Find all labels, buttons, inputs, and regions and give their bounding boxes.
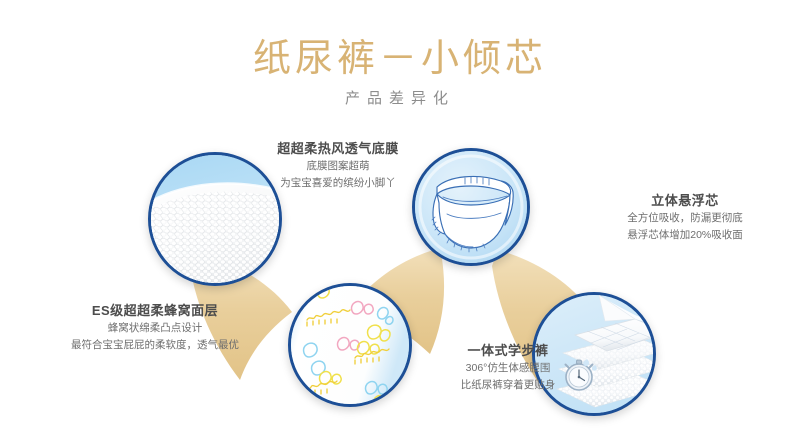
feature-heading: 一体式学步裤 <box>398 342 618 360</box>
page-title: 纸尿裤－小倾芯 <box>0 36 800 82</box>
feature-line: 为宝宝喜爱的缤纷小脚丫 <box>228 175 448 192</box>
feature-line: 全方位吸收，防漏更彻底 <box>570 210 800 227</box>
feature-label-suspended-core: 立体悬浮芯 全方位吸收，防漏更彻底 悬浮芯体增加20%吸收面 <box>570 192 800 244</box>
feature-label-breathable-film: 超超柔热风透气底膜 底膜图案超萌 为宝宝喜爱的缤纷小脚丫 <box>228 140 448 192</box>
feature-line: 最符合宝宝屁屁的柔软度，透气最优 <box>25 337 285 354</box>
infographic-canvas: 纸尿裤－小倾芯 产品差异化 <box>0 0 800 439</box>
page-subtitle: 产品差异化 <box>0 88 800 110</box>
feature-label-es-topsheet: ES级超超柔蜂窝面层 蜂窝状绵柔凸点设计 最符合宝宝屁屁的柔软度，透气最优 <box>25 302 285 354</box>
feature-label-training-pant: 一体式学步裤 306°仿生体感腰围 比纸尿裤穿着更贴身 <box>398 342 618 394</box>
feature-line: 底膜图案超萌 <box>228 158 448 175</box>
feature-image-training-pant[interactable] <box>288 283 412 407</box>
feature-line: 比纸尿裤穿着更贴身 <box>398 377 618 394</box>
feature-line: 306°仿生体感腰围 <box>398 360 618 377</box>
feature-heading: 超超柔热风透气底膜 <box>228 140 448 158</box>
feature-heading: 立体悬浮芯 <box>570 192 800 210</box>
feature-line: 悬浮芯体增加20%吸收面 <box>570 227 800 244</box>
feature-line: 蜂窝状绵柔凸点设计 <box>25 320 285 337</box>
feature-heading: ES级超超柔蜂窝面层 <box>25 302 285 320</box>
